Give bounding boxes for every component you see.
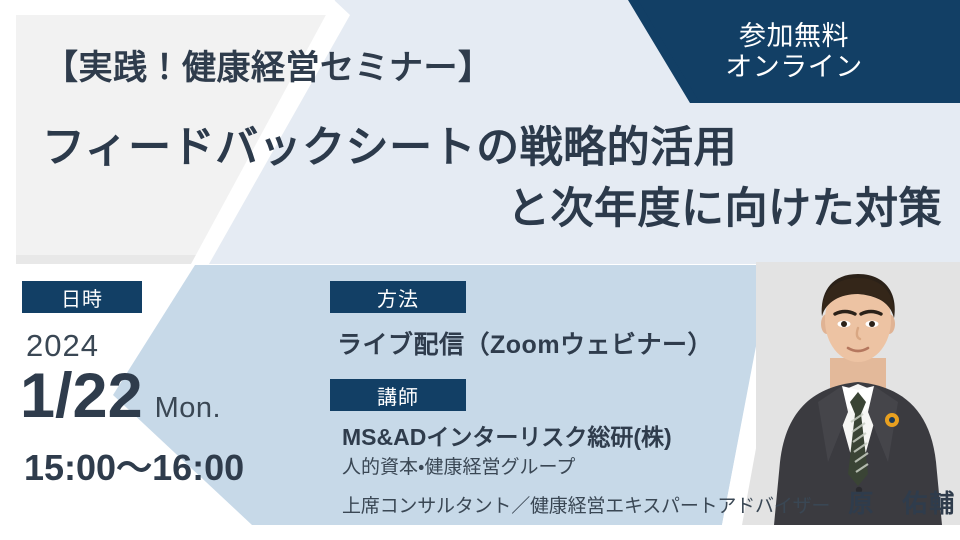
seminar-title-line2: と次年度に向けた対策	[42, 179, 942, 240]
speaker-role-row: 上席コンサルタント／健康経営エキスパートアドバイザー 原 佑輔	[342, 484, 956, 520]
free-online-badge: 参加無料 オンライン	[628, 0, 960, 103]
method-value: ライブ配信（Zoomウェビナー）	[337, 325, 713, 361]
event-year: 2024	[26, 330, 244, 361]
seminar-kicker: 【実践！健康経営セミナー】	[44, 40, 493, 89]
seminar-title: フィードバックシートの戦略的活用 と次年度に向けた対策	[42, 118, 942, 240]
event-day-of-week: Mon.	[155, 392, 221, 425]
speaker-name: 原 佑輔	[848, 484, 956, 520]
speaker-company: MS&ADインターリスク総研(株)	[342, 423, 956, 452]
badge-line-free: 参加無料	[739, 21, 849, 51]
seminar-banner: 参加無料 オンライン 【実践！健康経営セミナー】 フィードバックシートの戦略的活…	[0, 0, 960, 540]
speaker-role: 上席コンサルタント／健康経営エキスパートアドバイザー	[342, 491, 830, 518]
chip-speaker-label: 講師	[330, 379, 466, 411]
speaker-block: MS&ADインターリスク総研(株) 人的資本・健康経営グループ 上席コンサルタン…	[342, 423, 956, 520]
datetime-block: 2024 1/22 Mon. 15:00〜16:00	[20, 330, 244, 491]
seminar-title-line1: フィードバックシートの戦略的活用	[42, 118, 942, 179]
badge-line-online: オンライン	[725, 52, 863, 82]
gray-header-panel-shadow	[16, 255, 216, 264]
chip-datetime-label: 日時	[22, 281, 142, 313]
speaker-group: 人的資本・健康経営グループ	[342, 454, 956, 482]
chip-method-label: 方法	[330, 281, 466, 313]
event-time-range: 15:00〜16:00	[24, 439, 244, 491]
header-gray-panel-base	[16, 255, 214, 264]
event-date: 1/22	[20, 363, 143, 429]
event-date-row: 1/22 Mon.	[20, 363, 244, 429]
